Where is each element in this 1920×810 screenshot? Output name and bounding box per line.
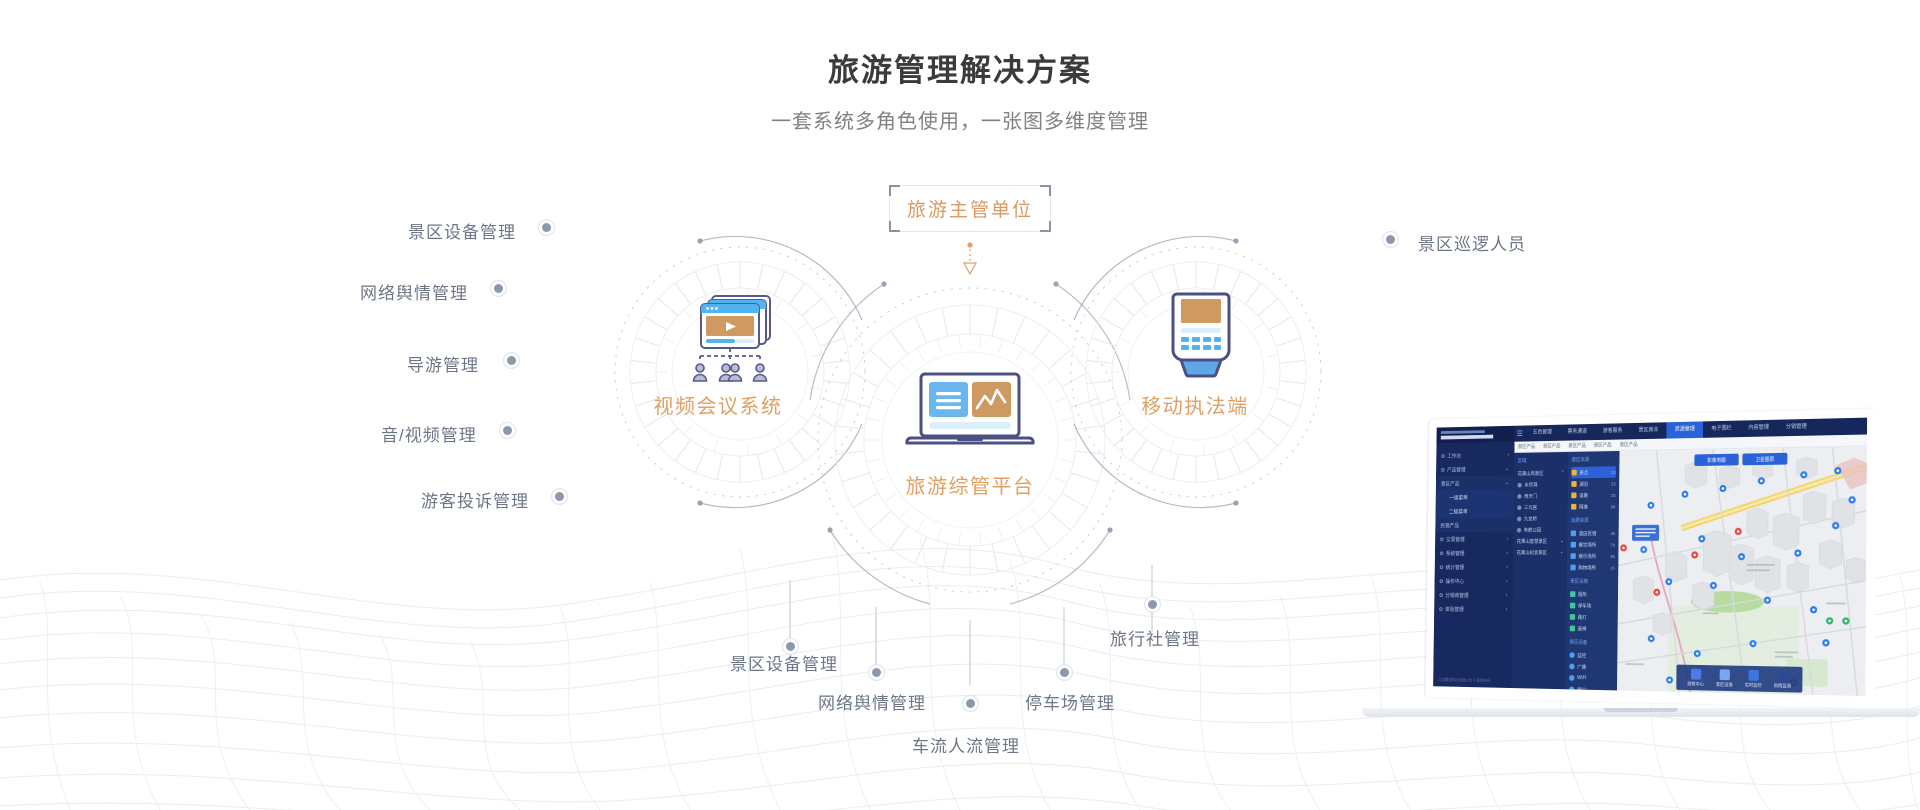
sidebar-item[interactable]: 分销商管理›	[1434, 588, 1512, 603]
bottom-label-0: 景区设备管理	[730, 650, 838, 675]
layer-icon	[1570, 625, 1575, 631]
bullet-icon	[1440, 551, 1443, 555]
nav-item[interactable]: 电子围栏	[1703, 421, 1740, 438]
map-toolbar: 游客中心 景区设施 实时监控 舆情监测	[1676, 665, 1802, 693]
right-label-0: 景区巡逻人员	[1418, 230, 1526, 255]
corner-bracket-bottom-left	[889, 221, 900, 232]
map-toolbar-item[interactable]: 景区设施	[1716, 669, 1733, 688]
layer-count: 23	[1611, 470, 1616, 475]
layer-row[interactable]: 餐饮场所78	[1571, 539, 1615, 551]
layer-group-header: 景区资源	[1572, 456, 1616, 463]
resource-layers-column: 景区资源 景点23 湖泊23 道路23 网维56 消费	[1566, 451, 1620, 690]
dashboard-tab[interactable]: 景区产品	[1594, 442, 1612, 449]
nav-item[interactable]: 景区商业	[1630, 422, 1666, 439]
sidebar-item-label: 系统管理	[1446, 549, 1465, 556]
mobile-enforcement-caption: 移动执法端	[1085, 390, 1305, 419]
nav-item[interactable]: 票务通道	[1560, 424, 1595, 441]
video-window-icon	[685, 290, 795, 382]
right-connector-dot-0[interactable]	[1382, 231, 1399, 248]
region-tree-header: 区域	[1518, 457, 1565, 464]
logo-line-2	[1441, 435, 1493, 440]
layer-icon	[1570, 614, 1575, 620]
supervisor-unit-label: 旅游主管单位	[907, 195, 1033, 222]
solution-diagram-page: 旅游管理解决方案 一套系统多角色使用，一张图多维度管理	[0, 0, 1920, 810]
mobile-enforcement-icon-group	[1165, 290, 1237, 382]
dashboard-tab[interactable]: 景区产品	[1568, 442, 1586, 449]
chevron-down-icon: ⌄	[1560, 538, 1564, 544]
bullet-icon	[1439, 607, 1442, 611]
handheld-terminal-icon	[1165, 290, 1237, 382]
region-child-row[interactable]: 水帘洞	[1517, 478, 1564, 490]
sidebar-item[interactable]: 产品管理⌄	[1436, 461, 1514, 476]
video-conference-caption: 视频会议系统	[608, 390, 828, 419]
sidebar-item[interactable]: 系统管理›	[1435, 546, 1513, 560]
gate-icon	[1719, 669, 1729, 680]
bullet-icon	[1517, 516, 1521, 521]
map-layer-button[interactable]: 影像地图	[1694, 454, 1738, 466]
region-label: 花果山风景区	[1518, 470, 1544, 477]
chevron-down-icon: ⌄	[1505, 480, 1509, 486]
video-conference-icon-group	[685, 290, 795, 380]
chevron-down-icon: ⌄	[1505, 466, 1509, 472]
layer-row[interactable]: 监控	[1569, 649, 1613, 661]
map-toolbar-item[interactable]: 实时监控	[1745, 670, 1762, 689]
supervisor-unit-box: 旅游主管单位	[889, 185, 1051, 232]
sidebar-group-label: 民宿产品	[1440, 521, 1459, 529]
layer-row[interactable]: 闸口	[1569, 684, 1614, 696]
bullet-icon	[1441, 468, 1444, 472]
layer-row[interactable]: 酒店民宿45	[1571, 527, 1615, 539]
map-canvas	[1617, 446, 1867, 696]
page-subtitle: 一套系统多角色使用，一张图多维度管理	[0, 105, 1920, 134]
tourism-platform-icon-group	[905, 372, 1035, 457]
sidebar-item-label: 产品管理	[1447, 465, 1466, 473]
chevron-up-icon: ⌃	[1561, 470, 1565, 476]
nav-item[interactable]: 游客服务	[1595, 423, 1631, 440]
sidebar-item[interactable]: 操作中心›	[1435, 574, 1513, 588]
layer-label: 餐饮场所	[1579, 541, 1597, 548]
sidebar-group[interactable]: 景区产品⌄	[1436, 475, 1514, 490]
laptop-dashboard-icon	[905, 372, 1035, 457]
chevron-right-icon: ›	[1506, 578, 1508, 584]
layer-row[interactable]: 厕所	[1570, 588, 1614, 600]
layer-row[interactable]: 座椅	[1570, 623, 1614, 635]
chevron-right-icon: ›	[1506, 550, 1508, 556]
sidebar-footer: 江苏腾游科技有限公司 © 版权所有	[1438, 677, 1490, 684]
logo-line-1	[1441, 430, 1485, 434]
region-row[interactable]: 花果山智慧景区⌄	[1517, 535, 1564, 546]
layer-row[interactable]: 广播	[1569, 661, 1613, 673]
left-connector-dot-0[interactable]	[538, 219, 555, 236]
sidebar-subitem[interactable]: 二级菜单	[1435, 504, 1513, 519]
left-connector-dot-1[interactable]	[490, 280, 507, 297]
cube-icon	[1691, 669, 1701, 680]
layer-count: 16	[1610, 565, 1615, 570]
layer-icon	[1569, 664, 1574, 670]
left-label-3: 音/视频管理	[381, 421, 477, 446]
laptop-base-notch	[1604, 708, 1678, 712]
layer-icon	[1571, 481, 1576, 487]
sidebar-group-label: 景区产品	[1441, 479, 1460, 487]
layer-label: 湖泊	[1579, 481, 1588, 488]
layer-icon	[1569, 686, 1574, 692]
layer-row[interactable]: 购物场所16	[1570, 562, 1614, 574]
layer-group-header: 消费资源	[1571, 517, 1615, 524]
bottom-connector-dot-1[interactable]	[868, 664, 885, 681]
chevron-right-icon: ›	[1506, 606, 1508, 612]
sidebar-item-label: 统计管理	[1446, 563, 1465, 570]
layer-icon	[1571, 504, 1576, 510]
sidebar-subitem-label: 一级菜单	[1449, 493, 1468, 501]
region-label: 南天门	[1524, 492, 1537, 499]
bottom-label-1: 网络舆情管理	[818, 689, 926, 714]
person-icon	[1439, 593, 1442, 597]
left-connector-dot-3[interactable]	[499, 422, 516, 439]
left-label-2: 导游管理	[407, 351, 479, 376]
map-toolbar-label: 景区设施	[1716, 682, 1733, 688]
layer-label: 厕所	[1578, 591, 1587, 598]
bullet-icon	[1441, 454, 1444, 458]
chevron-right-icon: ›	[1506, 564, 1508, 570]
layer-count: 23	[1611, 493, 1616, 498]
map-layer-buttons: 影像地图 卫星图层	[1694, 453, 1787, 466]
map-toolbar-item[interactable]: 舆情监测	[1774, 670, 1791, 689]
dashboard-tab[interactable]: 景区产品	[1620, 441, 1638, 448]
hamburger-icon[interactable]: ☰	[1515, 426, 1526, 442]
layer-label: 道路	[1579, 492, 1588, 499]
layer-group-header: 景区设备	[1570, 639, 1614, 646]
layer-label: 停车场	[1578, 602, 1591, 609]
map-toolbar-label: 实时监控	[1745, 683, 1762, 689]
region-label: 水帘洞	[1524, 481, 1537, 488]
layer-label: 景点	[1579, 469, 1588, 476]
region-child-row[interactable]: 三元宫	[1517, 501, 1564, 513]
laptop-base	[1362, 708, 1920, 721]
region-child-row[interactable]: 南天门	[1517, 490, 1564, 502]
region-label: 三元宫	[1524, 504, 1537, 511]
chevron-right-icon: ›	[1506, 592, 1508, 598]
layer-label: 酒店民宿	[1579, 530, 1597, 537]
dashboard-logo	[1437, 426, 1515, 443]
layer-label: 网维	[1579, 503, 1588, 510]
sidebar-item[interactable]: 交易管理›	[1435, 532, 1513, 546]
layer-icon	[1570, 591, 1575, 597]
left-connector-lines	[511, 227, 643, 496]
left-label-0: 景区设备管理	[408, 218, 516, 243]
map-toolbar-item[interactable]: 游客中心	[1687, 669, 1704, 688]
bottom-connector-dot-4[interactable]	[1144, 596, 1161, 613]
bullet-icon	[1440, 579, 1443, 583]
bullet-icon	[1517, 494, 1521, 499]
layer-row[interactable]: 娱乐场所95	[1570, 550, 1614, 561]
nav-item[interactable]: 分销管理	[1777, 419, 1815, 437]
region-label: 花果山纪念景区	[1517, 549, 1547, 556]
bottom-connector-dot-3[interactable]	[1056, 664, 1073, 681]
sidebar-group[interactable]: 民宿产品	[1435, 518, 1513, 532]
region-label: 九龙桥	[1524, 515, 1537, 522]
layer-row[interactable]: 道路23	[1571, 489, 1615, 501]
chevron-right-icon: ›	[1508, 452, 1510, 458]
map-viewport[interactable]: 影像地图 卫星图层 游客中心 景区设施	[1617, 446, 1867, 696]
layer-row[interactable]: 路灯	[1570, 611, 1614, 623]
left-connector-dot-2[interactable]	[503, 352, 520, 369]
sidebar-item-label: 工作台	[1447, 452, 1461, 460]
nav-item[interactable]: 五色管理	[1525, 425, 1560, 442]
region-row[interactable]: 花果山纪念景区⌄	[1517, 547, 1564, 558]
sidebar-item[interactable]: 体验管理›	[1434, 602, 1512, 617]
dashboard-sidebar: 工作台› 产品管理⌄ 景区产品⌄ 一级菜单 二级菜单	[1433, 442, 1514, 688]
layer-icon	[1569, 675, 1574, 681]
layer-icon	[1570, 603, 1575, 609]
region-child-row[interactable]: 朱鹤公园	[1517, 524, 1564, 536]
page-title: 旅游管理解决方案	[0, 45, 1920, 90]
layer-label: WIFI	[1577, 675, 1586, 681]
layer-icon	[1571, 470, 1576, 476]
sidebar-item[interactable]: 工作台›	[1436, 447, 1514, 462]
radar-icon	[1777, 670, 1787, 681]
sidebar-item-label: 分销商管理	[1445, 591, 1468, 599]
map-layer-button[interactable]: 卫星图层	[1742, 453, 1787, 465]
corner-bracket-top-left	[889, 185, 900, 196]
dashboard-tab[interactable]: 景区产品	[1543, 443, 1561, 450]
chevron-down-icon: ⌄	[1560, 549, 1564, 555]
corner-bracket-top-right	[1040, 185, 1051, 196]
bullet-icon	[1517, 527, 1521, 532]
bullet-icon	[1440, 565, 1443, 569]
layer-icon	[1571, 530, 1576, 536]
layer-icon	[1570, 565, 1575, 571]
layer-icon	[1571, 542, 1576, 548]
bottom-label-2: 车流人流管理	[912, 732, 1020, 757]
bottom-label-4: 旅行社管理	[1110, 625, 1200, 650]
map-toolbar-label: 舆情监测	[1774, 683, 1791, 689]
layer-count: 45	[1611, 531, 1616, 536]
sidebar-item-label: 体验管理	[1445, 605, 1464, 613]
bottom-label-3: 停车场管理	[1025, 689, 1115, 714]
bottom-connector-dot-2[interactable]	[962, 695, 979, 712]
region-label: 朱鹤公园	[1524, 526, 1541, 533]
layer-group-header: 景区设施	[1570, 578, 1614, 585]
left-connector-dot-4[interactable]	[551, 488, 568, 505]
sidebar-item[interactable]: 统计管理›	[1435, 560, 1513, 574]
dashboard-tab[interactable]: 景区产品	[1518, 443, 1535, 450]
layer-label: 娱乐场所	[1578, 553, 1596, 560]
layer-count: 95	[1610, 554, 1615, 559]
layer-label: 购物场所	[1578, 564, 1596, 571]
layer-label: 路灯	[1578, 614, 1587, 621]
layer-row[interactable]: 网维56	[1571, 501, 1615, 513]
sidebar-subitem-label: 二级菜单	[1449, 507, 1468, 515]
map-toolbar-label: 游客中心	[1687, 681, 1704, 687]
region-row[interactable]: 花果山风景区⌃	[1518, 467, 1565, 479]
layer-label: 广播	[1577, 663, 1586, 670]
camera-icon	[1748, 670, 1758, 681]
dashboard-screenshot: ☰ 五色管理 票务通道 游客服务 景区商业 资源管理 电子围栏 内容管理 分销管…	[1433, 418, 1867, 696]
sidebar-item-label: 操作中心	[1445, 577, 1464, 585]
layer-icon	[1571, 553, 1576, 559]
layer-label: 闸口	[1577, 686, 1586, 693]
tourism-platform-caption: 旅游综管平台	[870, 470, 1070, 499]
supervisor-connector-arrow	[964, 242, 976, 274]
laptop-mockup: ☰ 五色管理 票务通道 游客服务 景区商业 资源管理 电子围栏 内容管理 分销管…	[1362, 408, 1920, 738]
layer-row[interactable]: 停车场	[1570, 600, 1614, 612]
layer-row[interactable]: WIFI	[1569, 672, 1614, 684]
left-label-1: 网络舆情管理	[360, 279, 468, 304]
resource-panel: 区域 花果山风景区⌃ 水帘洞 南天门 三元宫	[1511, 451, 1619, 690]
layer-label: 监控	[1577, 652, 1586, 659]
layer-icon	[1569, 652, 1574, 658]
sidebar-subitem[interactable]: 一级菜单	[1436, 489, 1514, 504]
laptop-screen: ☰ 五色管理 票务通道 游客服务 景区商业 资源管理 电子围栏 内容管理 分销管…	[1425, 408, 1875, 708]
layer-count: 56	[1611, 504, 1616, 509]
chevron-right-icon: ›	[1507, 536, 1509, 542]
bullet-icon	[1440, 537, 1443, 541]
bullet-icon	[1517, 505, 1521, 510]
left-label-4: 游客投诉管理	[421, 487, 529, 512]
nav-item[interactable]: 内容管理	[1740, 420, 1778, 437]
layer-label: 座椅	[1578, 625, 1587, 632]
nav-item-active[interactable]: 资源管理	[1666, 421, 1703, 438]
corner-bracket-bottom-right	[1040, 221, 1051, 232]
layer-row[interactable]: 湖泊23	[1571, 478, 1615, 490]
bullet-icon	[1517, 482, 1521, 487]
region-label: 花果山智慧景区	[1517, 538, 1547, 545]
layer-count: 23	[1611, 481, 1616, 486]
layer-row-selected[interactable]: 景点23	[1571, 466, 1615, 478]
region-child-row[interactable]: 九龙桥	[1517, 513, 1564, 525]
layer-count: 78	[1610, 542, 1615, 547]
sidebar-item-label: 交易管理	[1446, 535, 1465, 543]
layer-icon	[1571, 493, 1576, 499]
region-tree-column: 区域 花果山风景区⌃ 水帘洞 南天门 三元宫	[1511, 452, 1568, 689]
